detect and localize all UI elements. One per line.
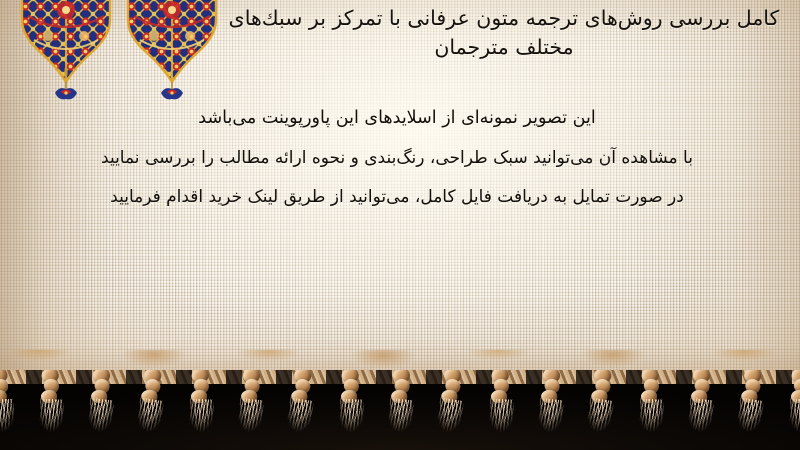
tassel-floss [387,398,415,434]
slide-canvas: کامل بررسی روش‌های ترجمه متون عرفانی با … [0,0,800,450]
body-line: در صورت تمایل به دریافت فایل کامل، می‌تو… [0,189,800,206]
tassel-floss [87,398,115,434]
fringe-tassel [583,370,619,435]
fringe-tassel [786,370,800,434]
fringe-tassel [36,370,67,434]
tassel-floss [285,397,314,434]
tassel-floss [585,397,614,434]
fringe-tassel [733,370,769,435]
fringe-tassel [685,370,718,435]
slide-body: این تصویر نمونه‌ای از اسلایدهای این پاور… [0,110,800,228]
tassel-floss [735,397,764,434]
fringe-tassel [283,370,319,435]
fringe-tassel [85,370,118,435]
carpet-fringe-band [0,370,800,450]
tassel-floss [687,398,715,434]
fringe-tassel [133,370,169,435]
tassel-floss [788,398,800,433]
fringe-tassel [433,370,469,435]
persian-illumination-pendant-icon [18,0,114,108]
fringe-tassel [535,370,568,435]
tassel-floss [638,398,664,433]
fringe-tassel [636,370,667,434]
tassel-floss [135,397,164,434]
slide-title: کامل بررسی روش‌های ترجمه متون عرفانی با … [224,4,784,62]
tassel-floss [338,398,364,433]
tassel-floss [435,397,464,434]
fringe-tassel [186,370,217,434]
fringe-tassel [235,370,268,435]
tassel-floss [488,398,514,433]
tassel-floss [237,398,265,434]
body-line: این تصویر نمونه‌ای از اسلایدهای این پاور… [0,110,800,128]
body-line: با مشاهده آن می‌توانید سبک طراحی، رنگ‌بن… [0,150,800,167]
tassel-floss [38,398,64,433]
tassel-floss [537,398,565,434]
fringe-tassel [486,370,517,434]
fringe-tassel [336,370,367,434]
persian-illumination-pendant-icon [124,0,220,108]
fringe-tassel [385,370,418,435]
tassel-floss [0,399,14,433]
tassel-floss [188,398,214,433]
